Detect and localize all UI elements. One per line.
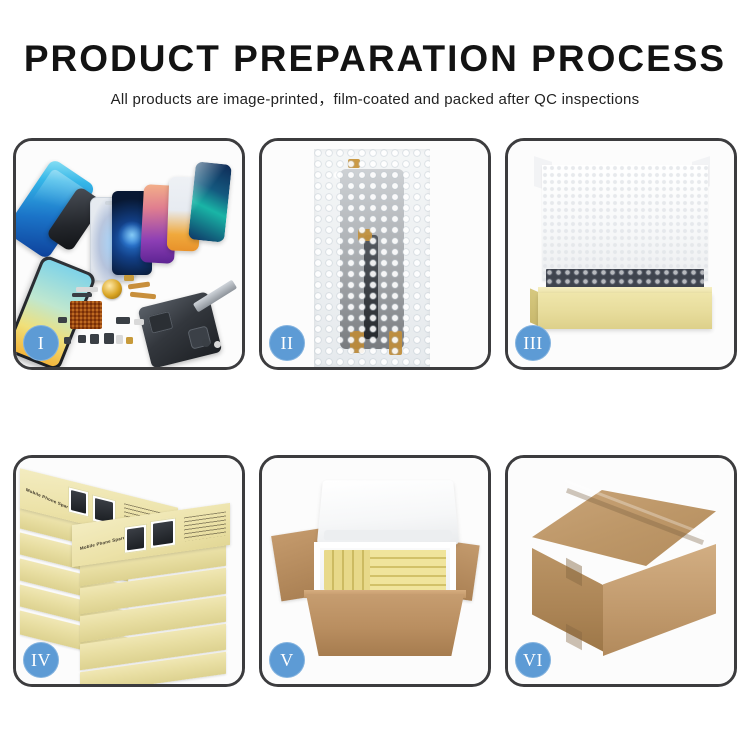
process-step-4: Mobile Phone Spare Parts Mobile Phone Sp… bbox=[13, 455, 245, 687]
page-title: PRODUCT PREPARATION PROCESS bbox=[0, 0, 750, 79]
foam-cooler-lid-image bbox=[317, 480, 459, 544]
component-chip-image bbox=[134, 319, 144, 325]
component-chip-image bbox=[116, 335, 123, 344]
shield-plate-image bbox=[70, 301, 102, 329]
yellow-inner-box-image bbox=[538, 293, 712, 329]
component-chip-image bbox=[126, 337, 133, 344]
product-preparation-page: PRODUCT PREPARATION PROCESS All products… bbox=[0, 0, 750, 750]
component-chip-image bbox=[104, 333, 114, 344]
component-chip-image bbox=[76, 287, 98, 292]
process-step-3: III bbox=[505, 138, 737, 370]
component-chip-image bbox=[90, 334, 99, 344]
component-chip-image bbox=[72, 293, 92, 297]
speaker-coil-image bbox=[102, 279, 122, 299]
component-chip-image bbox=[78, 335, 86, 343]
box-window bbox=[150, 517, 176, 549]
process-step-2: II bbox=[259, 138, 491, 370]
component-chip-image bbox=[124, 275, 134, 281]
process-step-grid: I II bbox=[13, 138, 737, 687]
component-chip-image bbox=[58, 317, 67, 323]
bubble-texture-overlay bbox=[314, 149, 430, 367]
component-chip-image bbox=[202, 339, 210, 347]
bubble-wrap-bag-image bbox=[314, 149, 430, 367]
component-chip-image bbox=[214, 341, 221, 348]
teal-wave-phone-image bbox=[188, 161, 232, 242]
white-foam-lid-image bbox=[542, 165, 708, 281]
step-badge-3: III bbox=[515, 325, 551, 361]
carton-front-image bbox=[306, 594, 464, 656]
foam-texture-overlay bbox=[542, 165, 708, 281]
step-badge-1: I bbox=[23, 325, 59, 361]
process-step-5: V bbox=[259, 455, 491, 687]
step-badge-4: IV bbox=[23, 642, 59, 678]
process-step-1: I bbox=[13, 138, 245, 370]
carton-right-face-image bbox=[603, 544, 716, 656]
page-subtitle: All products are image-printed，film-coat… bbox=[0, 79, 750, 109]
page-header: PRODUCT PREPARATION PROCESS All products… bbox=[0, 0, 750, 109]
flex-cable-image bbox=[130, 292, 156, 300]
box-window bbox=[68, 486, 89, 517]
yellow-boxes-in-carton-image bbox=[370, 550, 446, 590]
box-window bbox=[124, 524, 147, 554]
process-step-6: VI bbox=[505, 455, 737, 687]
step-badge-5: V bbox=[269, 642, 305, 678]
box-spec-lines bbox=[184, 511, 226, 541]
step-badge-6: VI bbox=[515, 642, 551, 678]
step-badge-2: II bbox=[269, 325, 305, 361]
flex-cable-image bbox=[128, 281, 150, 289]
component-chip-image bbox=[116, 317, 130, 324]
component-chip-image bbox=[64, 337, 71, 344]
